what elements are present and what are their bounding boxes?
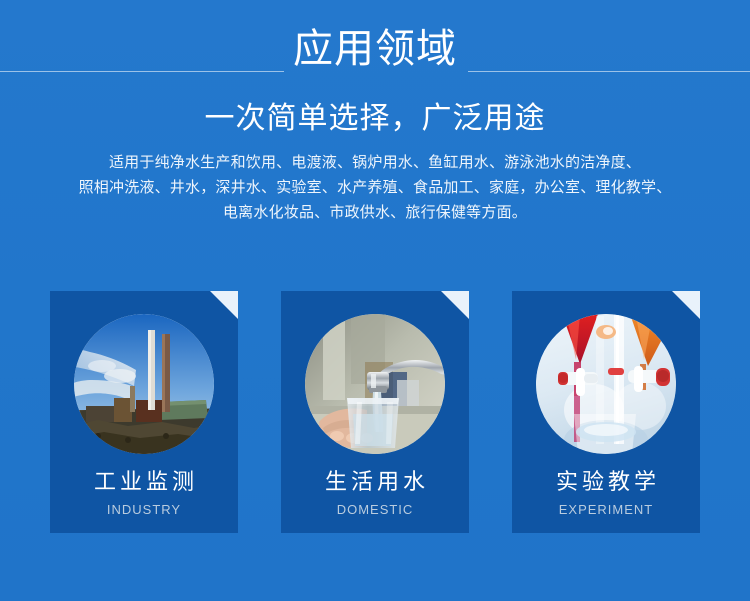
industrial-smokestacks-photo (74, 314, 214, 454)
card-domestic[interactable]: 生活用水 DOMESTIC (281, 291, 469, 533)
description-line-1: 适用于纯净水生产和饮用、电渡液、锅炉用水、鱼缸用水、游泳池水的洁净度、 (0, 150, 750, 175)
card-experiment[interactable]: 实验教学 EXPERIMENT (512, 291, 700, 533)
card-label-en: INDUSTRY (50, 502, 238, 518)
corner-fold-icon (210, 291, 238, 319)
card-label-cn: 生活用水 (281, 469, 469, 495)
card-label-en: EXPERIMENT (512, 502, 700, 518)
page-title: 应用领域 (0, 22, 750, 76)
laboratory-burette-glassware-photo (536, 314, 676, 454)
header: 应用领域 (0, 22, 750, 82)
application-cards: 工业监测 INDUSTRY (50, 291, 700, 533)
page-subtitle: 一次简单选择，广泛用途 (0, 99, 750, 139)
description-block: 适用于纯净水生产和饮用、电渡液、锅炉用水、鱼缸用水、游泳池水的洁净度、 照相冲洗… (0, 150, 750, 225)
card-label-en: DOMESTIC (281, 502, 469, 518)
faucet-filling-glass-photo (305, 314, 445, 454)
description-line-3: 电离水化妆品、市政供水、旅行保健等方面。 (0, 200, 750, 225)
description-line-2: 照相冲洗液、井水，深井水、实验室、水产养殖、食品加工、家庭，办公室、理化教学、 (0, 175, 750, 200)
corner-fold-icon (441, 291, 469, 319)
application-fields-banner: 应用领域 一次简单选择，广泛用途 适用于纯净水生产和饮用、电渡液、锅炉用水、鱼缸… (0, 0, 750, 601)
card-label-cn: 实验教学 (512, 469, 700, 495)
corner-fold-icon (672, 291, 700, 319)
card-industry[interactable]: 工业监测 INDUSTRY (50, 291, 238, 533)
card-label-cn: 工业监测 (50, 469, 238, 495)
